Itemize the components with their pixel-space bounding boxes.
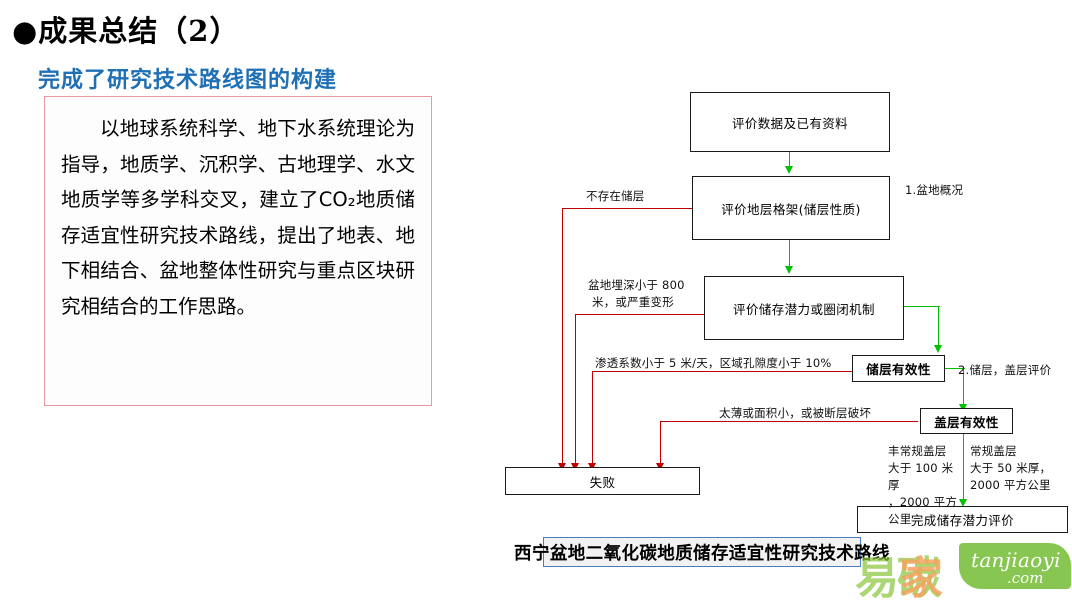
flow-box-data-sources[interactable]: 评价数据及已有资料 <box>690 92 890 152</box>
reject-line-thin-caprock-v <box>660 421 661 466</box>
reject-line-shallow-depth-v <box>575 314 576 466</box>
caprock-conventional-line3: 2000 平方公里 <box>970 477 1070 494</box>
flow-box-storage-potential[interactable]: 评价储存潜力或圈闭机制 <box>704 276 904 340</box>
reject-label-no-reservoir: 不存在储层 <box>586 188 645 204</box>
reject-line-no-reservoir-h <box>562 208 692 209</box>
stage-label-basin-overview: 1.盆地概况 <box>905 182 963 198</box>
flow-box-reservoir-validity[interactable]: 储层有效性 <box>852 355 945 382</box>
watermark-domain-tld: .com <box>1007 569 1043 587</box>
caprock-criteria-conventional: 常规盖层 大于 50 米厚， 2000 平方公里 <box>970 443 1070 494</box>
reject-line-shallow-depth-h <box>575 314 704 315</box>
watermark-badge <box>959 543 1071 589</box>
reject-line-no-reservoir-v <box>562 208 563 466</box>
arrowhead-data-to-strata <box>785 166 793 174</box>
reject-line-thin-caprock-h <box>660 421 918 422</box>
flow-box-data-sources-label: 评价数据及已有资料 <box>732 113 848 132</box>
flow-box-storage-potential-label: 评价储存潜力或圈闭机制 <box>733 299 875 318</box>
arrowhead-strata-to-potential <box>785 266 793 274</box>
flow-box-strata-framework-label: 评价地层格架(储层性质) <box>721 199 861 218</box>
arrowhead-potential-to-reservoir <box>934 345 942 353</box>
reject-label-permeability: 渗透系数小于 5 米/天，区域孔隙度小于 10% <box>595 355 832 371</box>
reject-label-thin-caprock: 太薄或面积小，或被断层破坏 <box>719 405 871 421</box>
flow-box-reservoir-validity-label: 储层有效性 <box>866 359 931 378</box>
diagram-caption-banner: 西宁盆地二氧化碳地质储存适宜性研究技术路线 <box>543 537 861 567</box>
flow-box-caprock-validity[interactable]: 盖层有效性 <box>920 408 1013 434</box>
watermark-domain-main: tanjiaoyi <box>971 548 1061 572</box>
reject-label-shallow-depth-line1: 盆地埋深小于 800 <box>588 277 685 293</box>
connector-strata-to-potential <box>789 240 790 268</box>
flow-box-failure-label: 失败 <box>590 472 616 491</box>
body-paragraph: 以地球系统科学、地下水系统理论为指导，地质学、沉积学、古地理学、水文地质学等多学… <box>61 111 415 324</box>
caprock-conventional-line1: 常规盖层 <box>970 443 1070 460</box>
reject-label-shallow-depth-line2: 米，或严重变形 <box>592 294 674 310</box>
diagram-caption-banner-label: 西宁盆地二氧化碳地质储存适宜性研究技术路线 <box>514 540 890 565</box>
flow-box-caprock-validity-label: 盖层有效性 <box>934 412 999 431</box>
section-subtitle: 完成了研究技术路线图的构建 <box>38 62 337 94</box>
slide-canvas: ●成果总结（2） 完成了研究技术路线图的构建 以地球系统科学、地下水系统理论为指… <box>0 0 1072 601</box>
caprock-unconventional-line2: 大于 100 米厚 <box>888 460 964 494</box>
reject-line-permeability-v <box>592 371 593 466</box>
watermark-cn-accent: 家 <box>899 542 941 601</box>
caprock-conventional-line2: 大于 50 米厚， <box>970 460 1070 477</box>
body-textbox: 以地球系统科学、地下水系统理论为指导，地质学、沉积学、古地理学、水文地质学等多学… <box>44 96 432 406</box>
caprock-unconventional-line1: 丰常规盖层 <box>888 443 964 460</box>
caprock-criteria-unconventional: 丰常规盖层 大于 100 米厚 ，2000 平方公里 <box>888 443 964 528</box>
reject-line-permeability-h <box>592 371 852 372</box>
connector-potential-to-reservoir-v <box>938 306 939 346</box>
flow-box-failure[interactable]: 失败 <box>505 467 700 495</box>
caprock-unconventional-line3: ，2000 平方公里 <box>888 494 964 528</box>
connector-potential-to-reservoir-h <box>904 306 940 307</box>
page-title: ●成果总结（2） <box>12 8 239 50</box>
flow-box-strata-framework[interactable]: 评价地层格架(储层性质) <box>692 176 890 240</box>
stage-label-reservoir-caprock: 2.储层，盖层评价 <box>958 362 1051 378</box>
